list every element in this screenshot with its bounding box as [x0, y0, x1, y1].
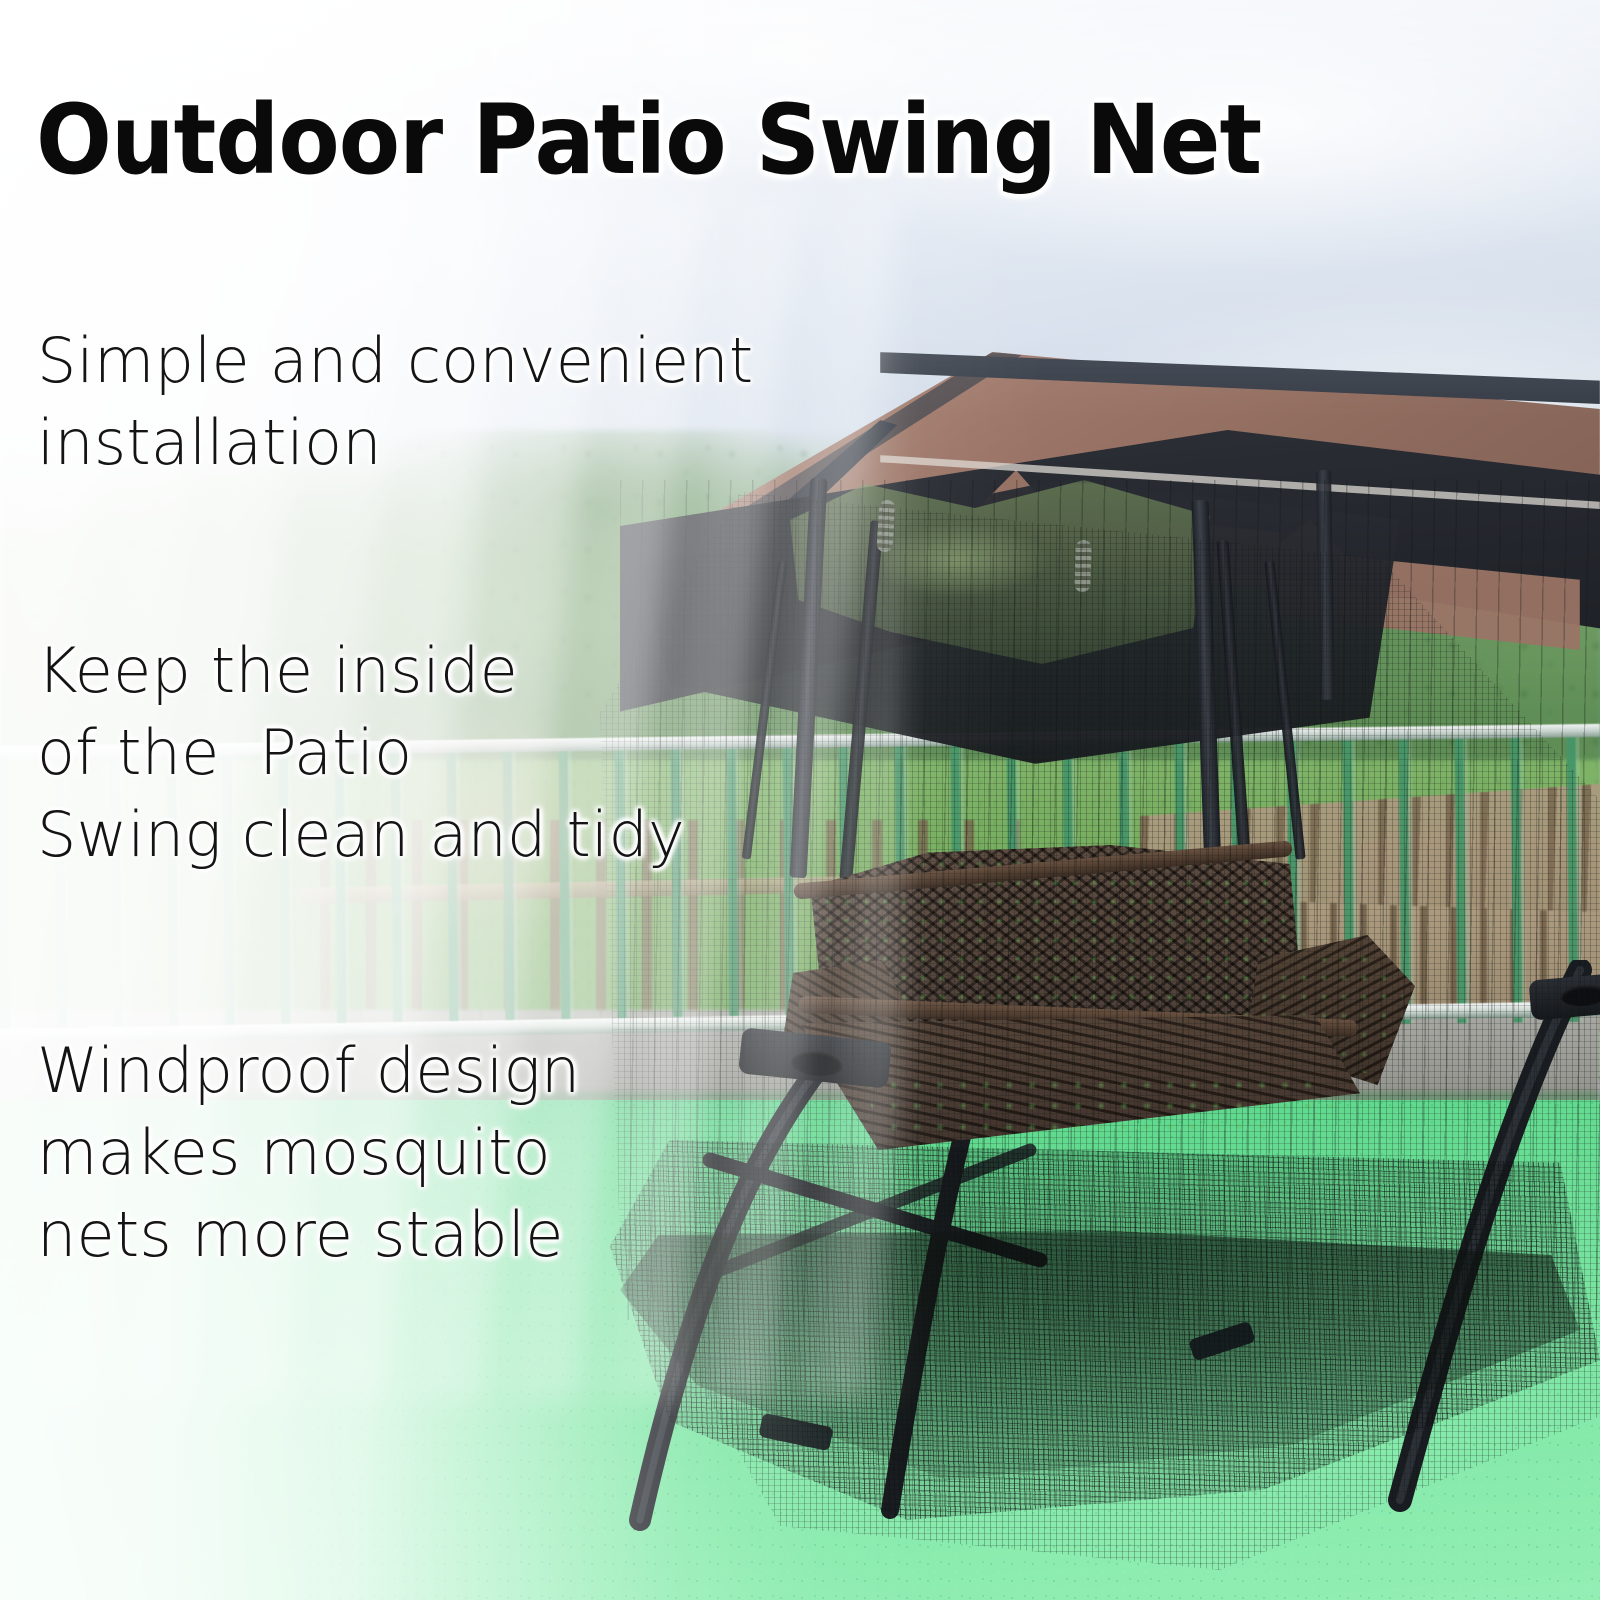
feature-text-installation: Simple and convenient installation	[37, 320, 753, 484]
page-title: Outdoor Patio Swing Net	[36, 92, 1261, 188]
feature-text-windproof: Windproof design makes mosquito nets mor…	[37, 1030, 580, 1276]
feature-text-clean: Keep the inside of the Patio Swing clean…	[37, 630, 685, 876]
product-marketing-image: Outdoor Patio Swing Net Simple and conve…	[0, 0, 1600, 1600]
